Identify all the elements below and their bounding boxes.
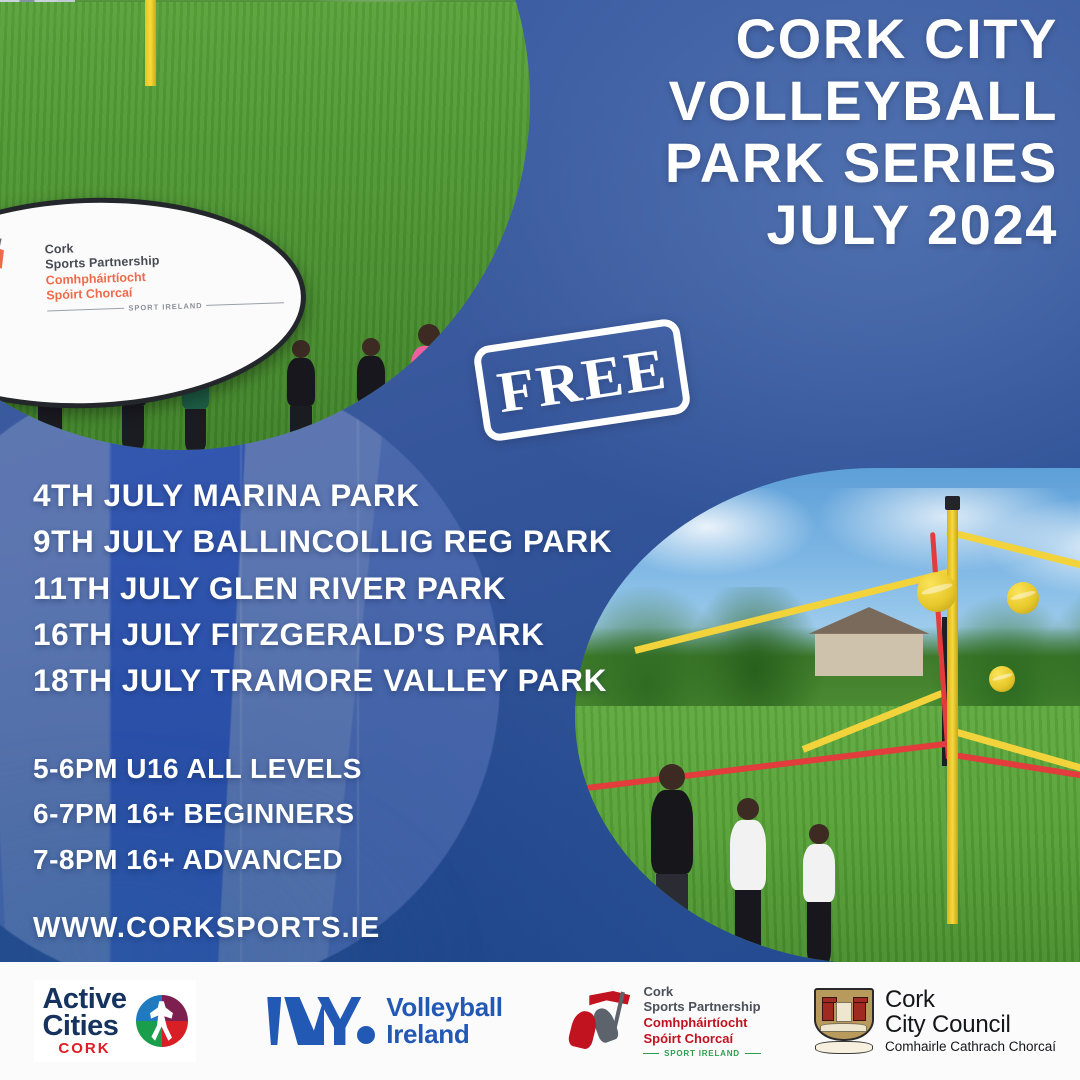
ccc-line-2: City Council <box>885 1013 1056 1038</box>
volleyball <box>917 572 957 612</box>
schedule-item: 11TH JULY GLEN RIVER PARK <box>33 565 612 611</box>
runner-figure-red-icon <box>567 1009 599 1051</box>
poster-canvas: Cork Sports Partnership Comhpháirtíocht … <box>0 0 1080 1080</box>
player-legs <box>38 402 62 448</box>
net-pole <box>145 0 156 86</box>
player-body <box>357 356 386 404</box>
csp-line-3: Comhpháirtíocht <box>643 1015 760 1030</box>
schedule-list: 4TH JULY MARINA PARK 9TH JULY BALLINCOLL… <box>33 472 612 703</box>
logo-volleyball-ireland: Volleyball Ireland <box>230 962 540 1080</box>
logo-active-cities-cork: Active Cities CORK <box>0 962 230 1080</box>
schedule-item: 9TH JULY BALLINCOLLIG REG PARK <box>33 518 612 564</box>
player-head <box>659 764 685 790</box>
player-body <box>730 820 765 890</box>
volleyball <box>1007 582 1039 614</box>
monogram-dot <box>357 1026 375 1044</box>
volleyball-ireland-line-1: Volleyball <box>386 994 502 1021</box>
net-pole <box>947 508 958 925</box>
csp-line-5: SPORT IRELAND <box>643 1049 760 1058</box>
title-line-3: PARK SERIES <box>418 132 1058 194</box>
photo-volleyball-session-right <box>575 468 1080 964</box>
banner-text: Cork Sports Partnership Comhpháirtíocht … <box>44 234 284 315</box>
player-figure-pink <box>418 324 440 450</box>
crest-tower-right <box>853 999 865 1021</box>
player-body <box>411 346 446 402</box>
player-body <box>287 358 316 406</box>
player-body <box>803 844 835 902</box>
player-legs <box>416 402 442 450</box>
monogram-stroke <box>284 997 324 1045</box>
crest-scroll-banner <box>815 1041 873 1054</box>
monogram-stroke <box>267 997 281 1045</box>
logo-cork-city-council: Cork City Council Comhairle Cathrach Cho… <box>790 962 1080 1080</box>
player-head <box>362 338 380 356</box>
title-line-4: JULY 2024 <box>418 194 1058 256</box>
cork-sports-partnership-wordmark: Cork Sports Partnership Comhpháirtíocht … <box>643 984 760 1059</box>
volleyball-ireland-wordmark: Volleyball Ireland <box>386 994 502 1047</box>
cork-sports-partnership-emblem-icon <box>569 991 635 1051</box>
session-item: 7-8PM 16+ ADVANCED <box>33 837 362 882</box>
ccc-line-3: Comhairle Cathrach Chorcaí <box>885 1039 1056 1054</box>
csp-line-4: Spóirt Chorcaí <box>643 1031 760 1046</box>
player-figure <box>292 340 310 450</box>
cork-city-council-wordmark: Cork City Council Comhairle Cathrach Cho… <box>885 988 1056 1055</box>
flag-icon <box>0 241 5 287</box>
player-figure <box>737 798 759 964</box>
active-cities-wordmark: Active Cities CORK <box>42 986 126 1055</box>
photo-scene <box>575 468 1080 964</box>
player-head <box>418 324 440 346</box>
free-badge-label: FREE <box>493 334 672 426</box>
crest-tower-left <box>822 999 834 1021</box>
ccc-line-1: Cork <box>885 988 1056 1013</box>
poster-title: CORK CITY VOLLEYBALL PARK SERIES JULY 20… <box>418 8 1058 257</box>
player-figure <box>809 824 829 964</box>
player-head <box>737 798 759 820</box>
volleyball-ireland-monogram-icon <box>267 997 375 1045</box>
crest-ship <box>836 1002 852 1022</box>
player-legs <box>122 406 144 450</box>
player-body <box>651 790 693 874</box>
player-legs <box>360 404 382 450</box>
player-legs <box>735 890 761 964</box>
crest-shield <box>814 988 874 1041</box>
player-figure <box>362 338 380 450</box>
player-head <box>809 824 829 844</box>
player-legs <box>290 406 312 450</box>
schedule-item: 16TH JULY FITZGERALD'S PARK <box>33 611 612 657</box>
title-line-1: CORK CITY <box>418 8 1058 70</box>
player-figure <box>659 764 685 964</box>
schedule-item: 4TH JULY MARINA PARK <box>33 472 612 518</box>
active-cities-word-1: Active <box>42 986 126 1013</box>
schedule-item: 18TH JULY TRAMORE VALLEY PARK <box>33 657 612 703</box>
player-legs <box>656 874 687 964</box>
session-item: 6-7PM 16+ BEGINNERS <box>33 791 362 836</box>
active-cities-emblem-icon <box>136 995 188 1047</box>
banner-logo-mark <box>0 237 36 377</box>
player-legs <box>185 409 205 450</box>
website-url[interactable]: WWW.CORKSPORTS.IE <box>33 912 380 945</box>
title-line-2: VOLLEYBALL <box>418 70 1058 132</box>
background-house <box>815 632 923 677</box>
csp-line-2: Sports Partnership <box>643 999 760 1014</box>
sponsor-footer: Active Cities CORK <box>0 962 1080 1080</box>
cork-city-council-crest-icon <box>814 988 874 1054</box>
player-legs <box>807 902 831 964</box>
volleyball-ireland-line-2: Ireland <box>386 1021 502 1048</box>
csp-line-1: Cork <box>643 984 760 999</box>
active-cities-word-3: CORK <box>42 1042 126 1056</box>
logo-cork-sports-partnership: Cork Sports Partnership Comhpháirtíocht … <box>540 962 790 1080</box>
crest-water <box>820 1023 867 1032</box>
player-head <box>292 340 310 358</box>
session-item: 5-6PM U16 ALL LEVELS <box>33 746 362 791</box>
runner-figure-grey-icon <box>0 272 3 344</box>
session-times-list: 5-6PM U16 ALL LEVELS 6-7PM 16+ BEGINNERS… <box>33 746 362 882</box>
active-cities-word-2: Cities <box>42 1013 126 1040</box>
